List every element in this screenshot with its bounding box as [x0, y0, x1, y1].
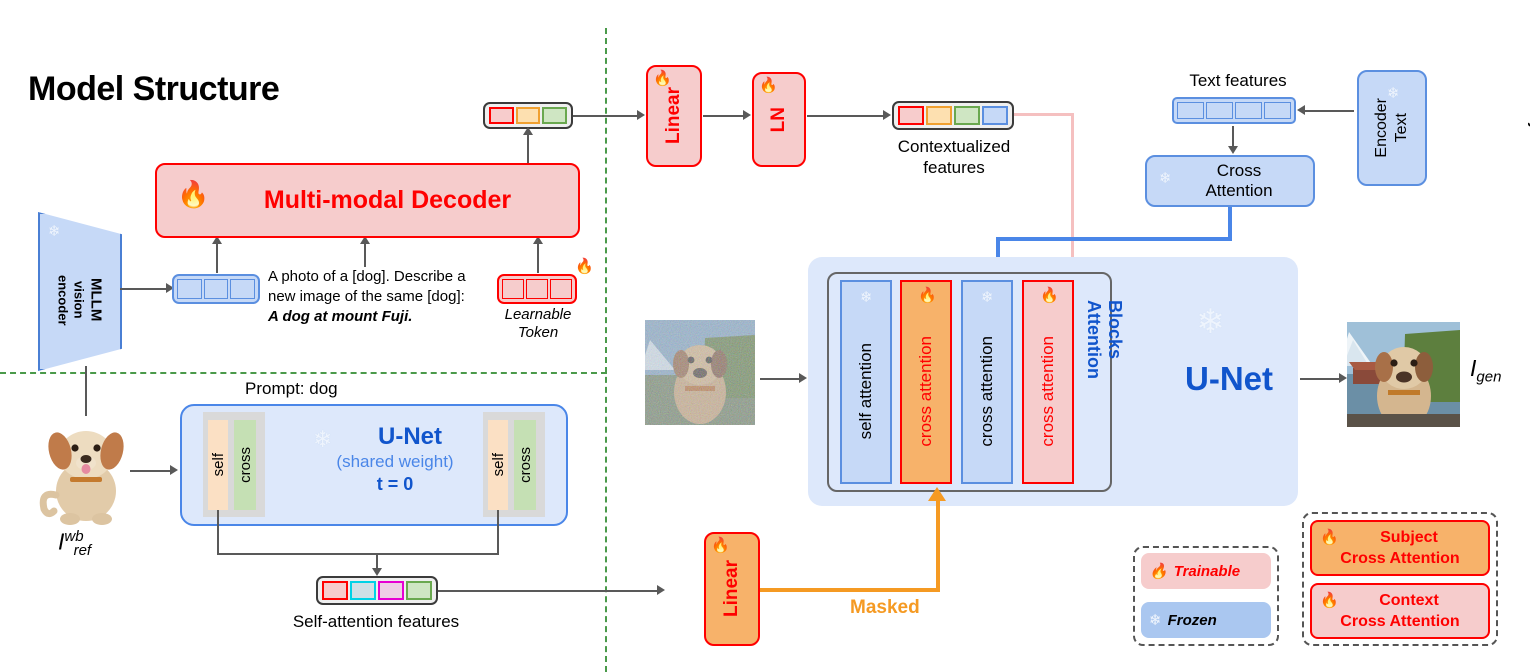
unet-shared-text: U-Net (shared weight) t = 0: [300, 423, 490, 495]
legend-frozen-label: Frozen: [1168, 612, 1217, 629]
fire-icon: 🔥: [1040, 288, 1059, 303]
unet-shared-cross-label: cross: [237, 447, 254, 483]
unet-shared-self-right[interactable]: self: [488, 420, 508, 510]
unet-shared-timestep: t = 0: [300, 473, 490, 495]
arrow-tokens-to-decoder: [216, 243, 218, 273]
unet-main-title: U-Net: [1185, 360, 1273, 398]
learnable-token-label: Learnable Token: [493, 306, 583, 342]
attention-blocks-label-line2: Blocks: [1104, 300, 1125, 379]
unet-shared-cross-right[interactable]: cross: [514, 420, 536, 510]
reference-image: [30, 415, 142, 525]
noisy-input-image: [645, 320, 755, 425]
decoder-token-cell: [542, 107, 567, 124]
text-encoder-label-line1: Text: [1393, 113, 1411, 142]
orange-route-horizontal: [760, 588, 940, 592]
blue-route-horizontal: [996, 237, 1232, 241]
attention-block-frozen-cross-attention[interactable]: ❄ cross attention: [961, 280, 1013, 484]
arrow-noisy-to-unet: [760, 378, 802, 380]
orange-route-vertical: [936, 500, 940, 590]
ln-block[interactable]: 🔥 LN: [752, 72, 806, 167]
vision-token-cell: [230, 279, 255, 299]
unet-shared-self-label: self: [490, 453, 507, 476]
arrow-reference-to-unet: [130, 470, 172, 472]
snowflake-icon: ❄: [1196, 305, 1225, 339]
arrow-encoder-to-tokens: [120, 288, 168, 290]
linear-block-top[interactable]: 🔥 Linear: [646, 65, 702, 167]
learnable-token-cell: [502, 279, 524, 299]
attention-block-label: cross attention: [916, 336, 936, 447]
linear-block-masked-label: Linear: [721, 560, 743, 617]
prompt-line-2: new image of the same [dog]:: [268, 287, 483, 307]
contextualized-features-caption: Contextualized features: [880, 136, 1028, 178]
linear-block-masked[interactable]: 🔥 Linear: [704, 532, 760, 646]
arrowhead-decoder-to-tokens: [523, 127, 533, 135]
legend-subject-cross-attention: 🔥 Subject Cross Attention: [1310, 520, 1490, 576]
legend-trainable-label: Trainable: [1174, 563, 1240, 580]
decoder-token-cell: [489, 107, 514, 124]
mllm-vision-encoder-label: encoder vision MLLM: [44, 240, 116, 360]
self-attention-features-strip: [316, 576, 438, 605]
selfattn-feature-cell: [378, 581, 404, 600]
cross-attention-label-line1: Cross: [1199, 161, 1261, 181]
arrowhead-ln-to-contextualized: [883, 110, 891, 120]
snowflake-icon: ❄: [981, 290, 994, 305]
fire-icon: 🔥: [1320, 593, 1339, 608]
unet-shared-cross-label: cross: [517, 447, 534, 483]
route-right-self-down: [497, 510, 499, 554]
mllm-label-line1: MLLM: [88, 278, 105, 321]
ln-block-label: LN: [768, 107, 790, 132]
snowflake-icon: ❄: [1159, 171, 1172, 186]
multimodal-decoder-label: Multi-modal Decoder: [224, 186, 511, 215]
fire-icon: 🔥: [653, 71, 672, 86]
fire-icon: 🔥: [1149, 564, 1168, 579]
arrowhead-unet-to-output: [1339, 373, 1347, 383]
generated-output-image: [1347, 322, 1460, 427]
arrowhead-to-selfattn-features: [372, 568, 382, 576]
pink-route-horizontal: [1014, 113, 1074, 116]
arrow-textencoder-to-features: [1302, 110, 1354, 112]
cross-attention-module[interactable]: ❄ Cross Attention: [1145, 155, 1315, 207]
arrow-selfattn-to-linear: [438, 590, 660, 592]
selfattn-feature-cell: [350, 581, 376, 600]
learnable-token-label-line1: Learnable: [493, 306, 583, 324]
arrowhead-reference-to-unet: [170, 465, 178, 475]
decoder-token-cell: [516, 107, 541, 124]
arrow-decoder-to-tokens: [527, 133, 529, 163]
prompt-line-3: A dog at mount Fuji.: [268, 307, 483, 327]
learnable-token-label-line2: Token: [493, 324, 583, 342]
unet-shared-self-label: self: [210, 453, 227, 476]
text-feature-cell: [1177, 102, 1204, 119]
selfattn-feature-cell: [322, 581, 348, 600]
arrowhead-selfattn-to-linear: [657, 585, 665, 595]
vision-tokens-strip: [172, 274, 260, 304]
snowflake-icon: ❄: [860, 290, 873, 305]
text-encoder-label-line2: Encoder: [1373, 98, 1391, 158]
prompt-line-1: A photo of a [dog]. Describe a: [268, 267, 483, 287]
unet-shared-cross-left[interactable]: cross: [234, 420, 256, 510]
arrow-learnable-to-decoder: [537, 243, 539, 273]
attention-block-self-attention[interactable]: ❄ self attention: [840, 280, 892, 484]
linear-block-top-label: Linear: [663, 87, 685, 144]
arrowhead-textencoder-to-features: [1297, 105, 1305, 115]
legend-context-cross-attention: 🔥 Context Cross Attention: [1310, 583, 1490, 639]
generated-caption-sub: gen: [1476, 369, 1501, 386]
fire-icon: 🔥: [575, 259, 594, 274]
unet-shared-title: U-Net: [300, 423, 490, 451]
text-features-caption: Text features: [1168, 71, 1308, 91]
attention-block-label: cross attention: [1038, 336, 1058, 447]
contextualized-features-strip: [892, 101, 1014, 130]
unet-shared-self-left[interactable]: self: [208, 420, 228, 510]
mllm-label-line3: encoder: [56, 275, 71, 326]
contextualized-cell: [898, 106, 924, 125]
arrow-unet-to-output: [1300, 378, 1342, 380]
prompt-text-block: A photo of a [dog]. Describe a new image…: [268, 267, 483, 327]
fire-icon: 🔥: [918, 288, 937, 303]
multimodal-decoder[interactable]: 🔥 Multi-modal Decoder: [155, 163, 580, 238]
self-attention-features-caption: Self-attention features: [276, 612, 476, 632]
arrowhead-noisy-to-unet: [799, 373, 807, 383]
attention-blocks-label-line1: Attention: [1083, 300, 1104, 379]
divider-horizontal: [0, 372, 607, 374]
page-title: Model Structure: [28, 70, 279, 109]
decoder-output-tokens: [483, 102, 573, 129]
attention-block-label: cross attention: [977, 336, 997, 447]
pink-route-vertical: [1071, 113, 1074, 266]
text-encoder[interactable]: ❄ Encoder Text: [1357, 70, 1427, 186]
divider-vertical: [605, 28, 607, 672]
fire-icon: 🔥: [759, 78, 778, 93]
attention-blocks-label: Attention Blocks: [1083, 300, 1125, 379]
cross-attention-label-line2: Attention: [1187, 181, 1272, 201]
snowflake-icon: ❄: [48, 224, 61, 239]
arrow-tokens-to-linear: [573, 115, 639, 117]
reference-caption-sub: ref: [74, 542, 92, 559]
contextualized-cell: [982, 106, 1008, 125]
arrow-textfeatures-to-crossattn: [1232, 126, 1234, 148]
unet-shared-subtitle: (shared weight): [300, 451, 490, 473]
text-input-caption: A dog at mount Fuji: [1455, 56, 1530, 133]
arrowhead-tokens-to-linear: [637, 110, 645, 120]
legend-trainable: 🔥 Trainable: [1141, 553, 1271, 589]
route-left-self-down: [217, 510, 219, 554]
learnable-token-strip: [497, 274, 577, 304]
text-feature-cell: [1235, 102, 1262, 119]
text-feature-cell: [1264, 102, 1291, 119]
route-join-horizontal: [217, 553, 499, 555]
masked-label: Masked: [850, 597, 920, 619]
arrow-linear-to-ln: [703, 115, 745, 117]
attention-block-subject-cross-attention[interactable]: 🔥 cross attention: [900, 280, 952, 484]
contextualized-cell: [954, 106, 980, 125]
reference-image-caption: Iwbref: [58, 528, 91, 559]
blue-route-vertical-right: [1228, 207, 1232, 241]
fire-icon: 🔥: [177, 181, 209, 207]
attention-block-label: self attention: [856, 343, 876, 439]
prompt-dog-label: Prompt: dog: [245, 379, 338, 399]
legend-subject-line2: Cross Attention: [1312, 549, 1488, 569]
legend-context-line2: Cross Attention: [1312, 612, 1488, 632]
contextualized-cell: [926, 106, 952, 125]
text-feature-cell: [1206, 102, 1233, 119]
learnable-token-cell: [526, 279, 548, 299]
contextualized-caption-line1: Contextualized: [880, 136, 1028, 157]
arrowhead-orange-to-subject-cross: [928, 487, 946, 501]
vision-token-cell: [177, 279, 202, 299]
mllm-label-line2: vision: [72, 281, 87, 319]
legend-frozen: ❄ Frozen: [1141, 602, 1271, 638]
attention-block-context-cross-attention[interactable]: 🔥 cross attention: [1022, 280, 1074, 484]
arrowhead-textfeatures-to-crossattn: [1228, 146, 1238, 154]
fire-icon: 🔥: [1320, 530, 1339, 545]
generated-image-caption: Igen: [1470, 355, 1501, 386]
arrow-encoder-down-to-reference: [85, 366, 87, 416]
contextualized-caption-line2: features: [880, 157, 1028, 178]
vision-token-cell: [204, 279, 229, 299]
snowflake-icon: ❄: [1149, 613, 1162, 628]
arrowhead-linear-to-ln: [743, 110, 751, 120]
arrow-ln-to-contextualized: [807, 115, 885, 117]
learnable-token-cell: [550, 279, 572, 299]
fire-icon: 🔥: [711, 538, 730, 553]
selfattn-feature-cell: [406, 581, 432, 600]
arrow-prompt-to-decoder: [364, 243, 366, 267]
text-features-strip: [1172, 97, 1296, 124]
